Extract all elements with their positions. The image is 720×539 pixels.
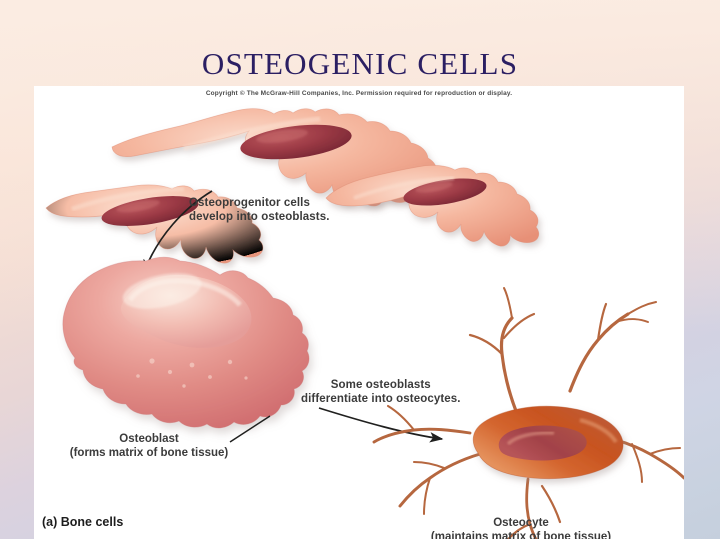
- annotation-differentiate-line1: Some osteoblasts: [331, 379, 431, 391]
- label-osteoblast-title: Osteoblast: [119, 433, 178, 445]
- slide: OSTEOGENIC CELLS Copyright © The McGraw-…: [0, 0, 720, 539]
- label-osteocyte: Osteocyte (maintains matrix of bone tiss…: [371, 502, 671, 539]
- page-title: OSTEOGENIC CELLS: [0, 46, 720, 82]
- nucleus: [499, 426, 587, 461]
- annotation-osteoprogenitor-line2: develop into osteoblasts.: [189, 210, 330, 224]
- annotation-osteoprogenitor: Osteoprogenitor cells develop into osteo…: [189, 182, 330, 238]
- annotation-differentiate-line2: differentiate into osteocytes.: [301, 392, 461, 406]
- label-osteoblast-description: (forms matrix of bone tissue): [41, 446, 257, 460]
- label-osteoblast: Osteoblast (forms matrix of bone tissue): [41, 418, 257, 474]
- label-osteocyte-title: Osteocyte: [493, 517, 549, 529]
- osteoblast-cell: [63, 257, 309, 428]
- figure-panel: Copyright © The McGraw-Hill Companies, I…: [34, 86, 684, 539]
- annotation-osteoprogenitor-line1: Osteoprogenitor cells: [189, 197, 310, 209]
- annotation-differentiate: Some osteoblasts differentiate into oste…: [301, 364, 461, 420]
- figure-caption: (a) Bone cells: [42, 515, 123, 530]
- label-osteocyte-description: (maintains matrix of bone tissue): [371, 530, 671, 539]
